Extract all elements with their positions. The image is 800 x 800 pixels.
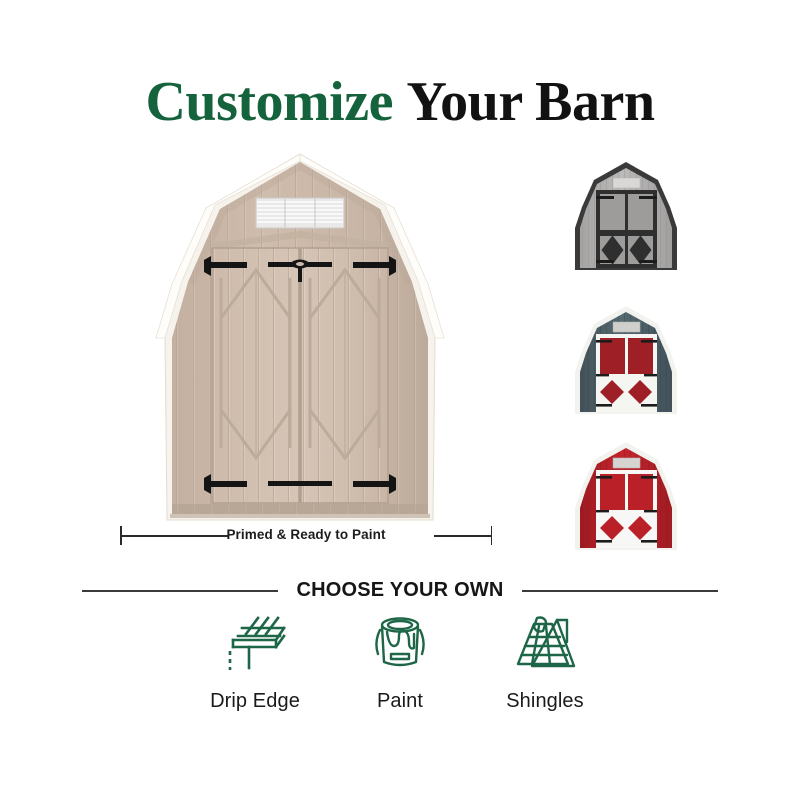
page-title: Customize Your Barn [0, 74, 800, 130]
feature-label-shingles: Shingles [506, 690, 584, 713]
shingles-icon [512, 612, 578, 674]
page-title-rest: Your Barn [406, 71, 654, 133]
feature-label-paint: Paint [377, 690, 423, 713]
feature-list: Drip Edge Paint [190, 612, 610, 732]
thumb-doors [596, 334, 657, 412]
thumb-doors [596, 190, 657, 268]
dimension-caption: Primed & Ready to Paint [120, 524, 492, 546]
paint-bucket-icon [367, 612, 433, 674]
gable-vent [256, 198, 344, 228]
divider-rule-right [522, 590, 718, 592]
feature-shingles[interactable]: Shingles [480, 612, 610, 713]
feature-label-drip-edge: Drip Edge [210, 690, 300, 713]
color-option-red-white-barn[interactable] [552, 436, 700, 560]
barn-doors [212, 248, 388, 503]
color-option-gray-charcoal-barn[interactable] [552, 156, 700, 280]
drip-edge-icon [222, 612, 288, 674]
thumb-doors [596, 470, 657, 548]
feature-paint[interactable]: Paint [335, 612, 465, 713]
hero-barn-image [108, 148, 508, 530]
feature-drip-edge[interactable]: Drip Edge [190, 612, 320, 713]
page-title-highlight: Customize [145, 71, 392, 133]
dimension-tick-right [491, 526, 493, 545]
color-option-slate-white-red-barn[interactable] [552, 300, 700, 424]
section-divider: CHOOSE YOUR OWN [82, 578, 718, 602]
dimension-line-right [434, 535, 492, 537]
